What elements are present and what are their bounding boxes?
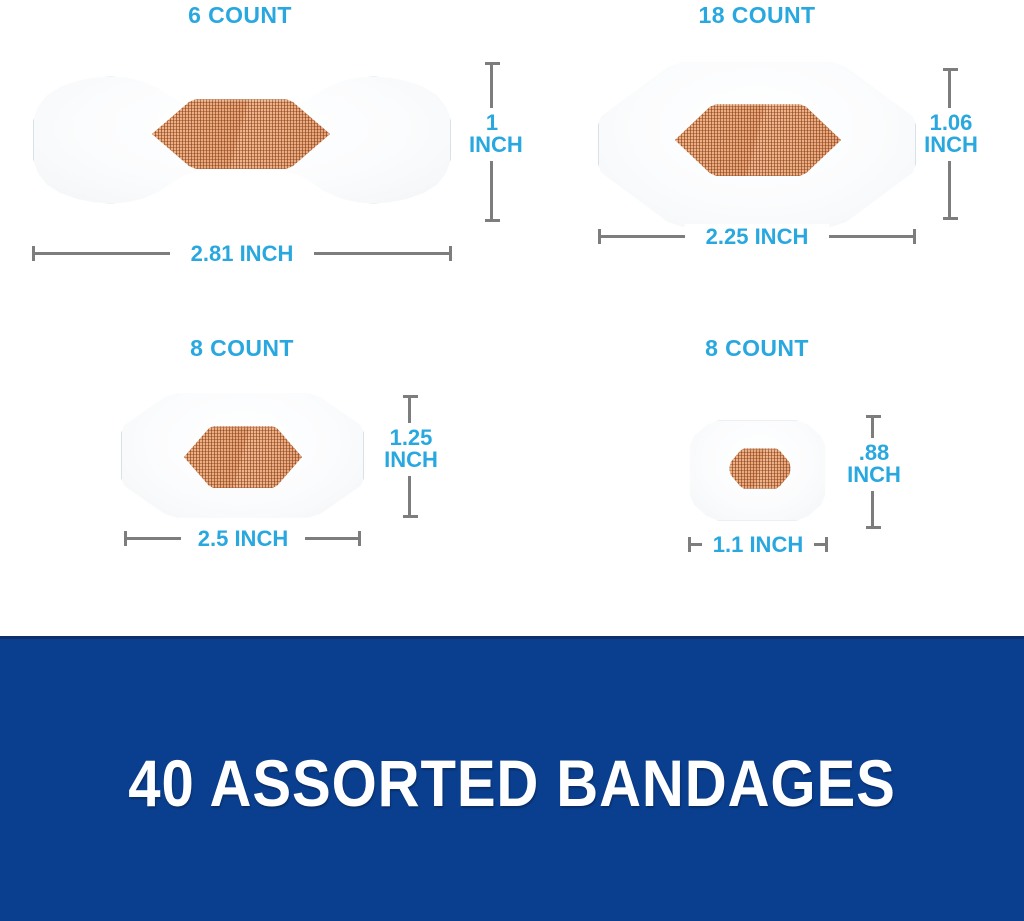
product-infographic: 6 COUNT 2.81 INCH 1 INCH 18 COUNT — [0, 0, 1024, 921]
dimension-cap-left — [688, 537, 691, 552]
width-dimension-label-hex-wide: 2.25 INCH — [685, 224, 829, 250]
height-dimension-unit: INCH — [920, 134, 982, 156]
height-dimension-unit: INCH — [380, 449, 442, 471]
height-dimension-value: 1.25 — [380, 427, 442, 449]
dimension-cap-top — [485, 62, 500, 65]
height-dimension-label-knuckle-large: 1 INCH — [466, 108, 518, 161]
dimension-cap-right — [913, 229, 916, 244]
bandage-pad-hex-small — [729, 448, 791, 489]
dimension-cap-top — [403, 395, 418, 398]
height-dimension-label-hex-small: .88 INCH — [841, 438, 907, 491]
dimension-cap-bottom — [866, 526, 881, 529]
product-card-knuckle-large: 6 COUNT 2.81 INCH 1 INCH — [0, 0, 512, 300]
height-dimension-value: 1 — [469, 112, 515, 134]
dimension-cap-right — [825, 537, 828, 552]
bottom-banner: 40 ASSORTED BANDAGES — [0, 636, 1024, 921]
count-label-hex-short: 8 COUNT — [122, 335, 362, 362]
dimension-cap-bottom — [403, 515, 418, 518]
width-dimension-label-hex-small: 1.1 INCH — [702, 532, 814, 558]
dimension-cap-left — [124, 531, 127, 546]
count-label-knuckle-large: 6 COUNT — [120, 2, 360, 29]
product-card-hex-wide: 18 COUNT 2.25 INCH 1.06 INCH — [512, 0, 1024, 300]
dimension-cap-right — [358, 531, 361, 546]
height-dimension-value: 1.06 — [920, 112, 982, 134]
dimension-cap-top — [943, 68, 958, 71]
dimension-cap-top — [866, 415, 881, 418]
dimension-cap-right — [449, 246, 452, 261]
count-label-hex-small: 8 COUNT — [637, 335, 877, 362]
product-card-hex-small: 8 COUNT 1.1 INCH .88 INCH — [512, 320, 1024, 580]
height-dimension-unit: INCH — [469, 134, 515, 156]
dimension-cap-bottom — [943, 217, 958, 220]
width-dimension-label-hex-short: 2.5 INCH — [181, 526, 305, 552]
height-dimension-unit: INCH — [844, 464, 904, 486]
dimension-cap-left — [598, 229, 601, 244]
height-dimension-label-hex-short: 1.25 INCH — [377, 423, 445, 476]
height-dimension-label-hex-wide: 1.06 INCH — [917, 108, 985, 161]
dimension-cap-bottom — [485, 219, 500, 222]
banner-title: 40 ASSORTED BANDAGES — [61, 745, 962, 821]
product-card-hex-short: 8 COUNT 2.5 INCH 1.25 INCH — [0, 320, 512, 580]
count-label-hex-wide: 18 COUNT — [637, 2, 877, 29]
width-dimension-label-knuckle-large: 2.81 INCH — [170, 241, 314, 267]
height-dimension-value: .88 — [844, 442, 904, 464]
dimension-cap-left — [32, 246, 35, 261]
